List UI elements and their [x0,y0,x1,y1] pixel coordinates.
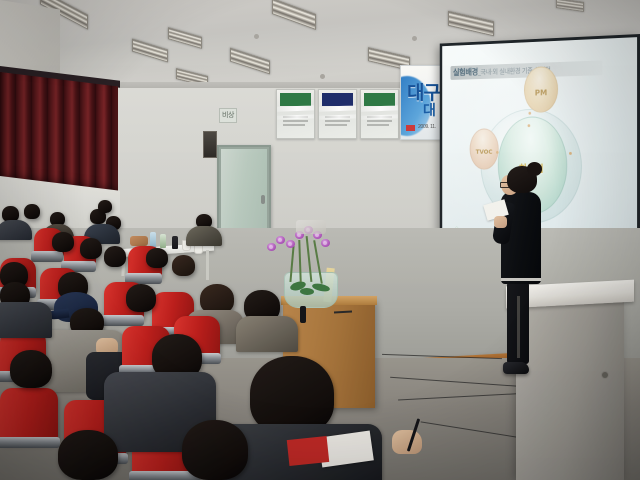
audience-head [58,430,118,480]
presenter-hair-bun [527,162,542,176]
audience-head [104,246,126,267]
snack-tray [130,236,148,246]
orchid-bloom [321,239,330,247]
ceiling-light-icon [168,27,202,49]
audience-head [80,238,102,259]
orchid-bloom [286,240,295,248]
audience-head [250,356,334,434]
whiteboard-edge [296,220,326,234]
audience-head [98,200,112,213]
wall-placard [276,89,315,139]
ceiling-light-icon [448,11,494,37]
audience-head [24,204,40,219]
audience-head [182,420,248,480]
water-bottle [160,234,166,248]
audience-head [52,232,74,252]
presenter-shoe [503,362,529,374]
auditorium-seat [0,388,58,444]
hand-holding-pen [392,420,428,454]
orchid-bloom [276,236,285,244]
wall-speaker-icon [203,131,217,158]
audience-torso [236,316,298,352]
audience-head [10,350,52,388]
presenter-leg-gap [517,296,520,358]
banner-tag [406,125,415,131]
sprinkler-icon [412,36,417,41]
table-leg [206,250,209,280]
door-handle-icon[interactable] [261,195,265,204]
microphone[interactable] [300,306,306,323]
ceiling-light-icon [176,68,208,87]
audience-torso [0,220,32,240]
audience-head [126,284,156,312]
ceiling-light-icon [556,0,584,12]
exit-sign: 비상 [219,108,237,123]
thermos [172,236,178,249]
presenter-hemline [501,278,541,281]
sprinkler-icon [320,74,325,79]
lecture-hall-photo: 비상 대구 대 2009. 11. 실험배경_국내·외 실내환경 기준 차이점 [0,0,640,480]
ceiling-light-icon [230,48,270,75]
audience-head [172,255,195,276]
banner-subtitle: 대 [423,100,436,120]
lectern-knob-icon[interactable] [602,372,608,378]
orchid-leaf [300,288,314,295]
wall-placard [360,89,399,139]
ceiling-light-icon [132,38,168,62]
audience-red-item [287,436,329,466]
wall-placard [318,89,357,139]
banner-footer: 2009. 11. [418,124,436,130]
presenter [493,166,555,384]
audience-torso [0,302,52,338]
audience-head [146,248,168,268]
sprinkler-icon [254,34,259,39]
orchid-bloom [267,243,276,251]
ceiling-light-icon [272,0,316,30]
audience-torso [186,226,222,246]
presenter-hands [494,216,507,228]
